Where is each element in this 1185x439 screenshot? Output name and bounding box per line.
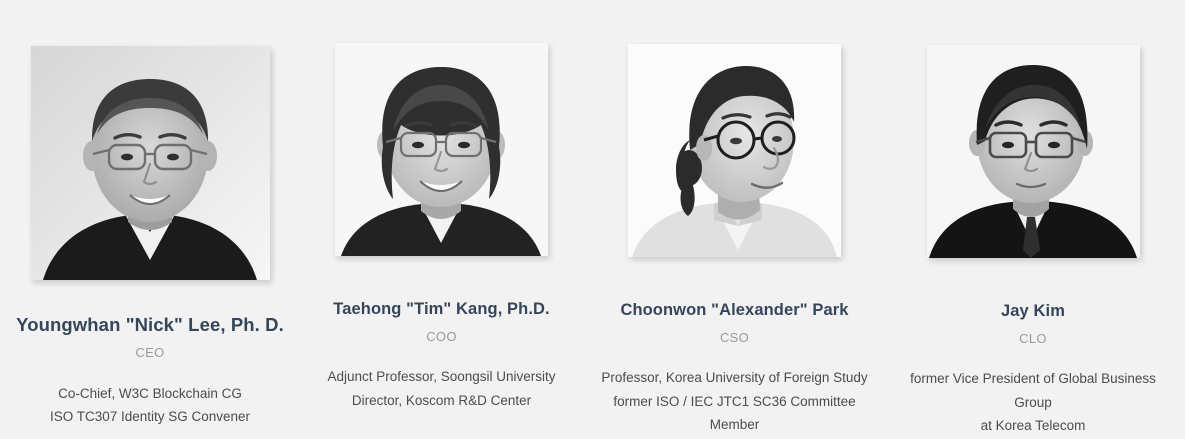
- member-description-line: Professor, Korea University of Foreign S…: [600, 366, 869, 389]
- member-description-line: former Vice President of Global Business…: [893, 367, 1173, 413]
- member-name: Choonwon "Alexander" Park: [588, 301, 881, 321]
- team-members-section: Youngwhan "Nick" Lee, Ph. D. CEO Co-Chie…: [0, 0, 1185, 439]
- member-role: CEO: [0, 343, 300, 363]
- member-photo-wrapper: [881, 0, 1185, 258]
- member-name: Taehong "Tim" Kang, Ph.D.: [295, 300, 588, 320]
- member-role: CLO: [881, 329, 1185, 349]
- member-description-line: at Korea Telecom: [893, 414, 1173, 437]
- team-member-card: Jay Kim CLO former Vice President of Glo…: [881, 0, 1185, 437]
- member-description: former Vice President of Global Business…: [881, 367, 1185, 437]
- member-name: Jay Kim: [881, 302, 1185, 322]
- team-member-card: Taehong "Tim" Kang, Ph.D. COO Adjunct Pr…: [295, 0, 588, 412]
- member-description-line: Director, Koscom R&D Center: [318, 389, 565, 412]
- member-photo: [628, 44, 841, 257]
- member-description: Adjunct Professor, Soongsil University D…: [295, 365, 588, 411]
- member-photo: [335, 43, 548, 256]
- member-role: CSO: [588, 328, 881, 348]
- member-name: Youngwhan "Nick" Lee, Ph. D.: [0, 314, 300, 336]
- member-photo-wrapper: [588, 0, 881, 257]
- member-photo: [927, 45, 1140, 258]
- member-role: COO: [295, 327, 588, 347]
- member-description-line: Co-Chief, W3C Blockchain CG: [34, 382, 266, 405]
- member-description: Professor, Korea University of Foreign S…: [588, 366, 881, 436]
- member-description-line: ISO TC307 Identity SG Convener: [34, 405, 266, 428]
- member-description-line: Adjunct Professor, Soongsil University: [318, 365, 565, 388]
- member-photo-wrapper: [0, 0, 300, 280]
- member-description-line: Member: [600, 413, 869, 436]
- team-member-card: Youngwhan "Nick" Lee, Ph. D. CEO Co-Chie…: [0, 0, 300, 428]
- member-photo-wrapper: [295, 0, 588, 256]
- member-description-line: former ISO / IEC JTC1 SC36 Committee: [600, 390, 869, 413]
- member-photo: [31, 46, 270, 280]
- member-description: Co-Chief, W3C Blockchain CG ISO TC307 Id…: [0, 382, 300, 428]
- team-member-card: Choonwon "Alexander" Park CSO Professor,…: [588, 0, 881, 436]
